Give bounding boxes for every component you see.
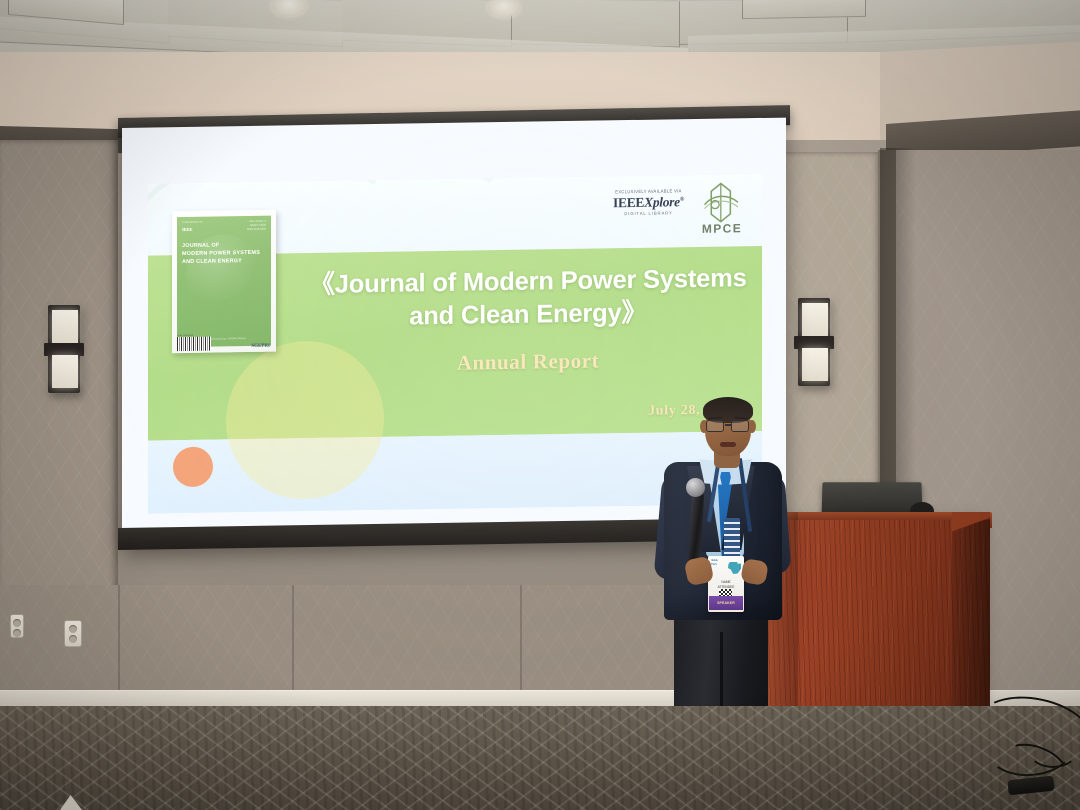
glasses-lens-right [731, 420, 749, 432]
badge-logo-text: IEEE PES [711, 559, 718, 567]
wall-seam [520, 585, 522, 705]
registered-mark: ® [680, 197, 684, 203]
xplore-library-text: DIGITAL LIBRARY [613, 210, 684, 216]
sconce-glass-top [802, 303, 828, 336]
cover-issue-info: VOL. 00 NO. 0 MONTH 2023 ISSN 2196-5625 [247, 220, 266, 233]
mpce-monogram-icon [696, 181, 746, 224]
wall-seam [292, 585, 294, 705]
sconce-glass-bottom [802, 348, 828, 381]
xplore-ieee-text: IEEE [613, 195, 644, 210]
carpet-floor [0, 706, 1080, 810]
wall-sconce-left [48, 305, 80, 393]
journal-cover-thumbnail: PUBLISHED BY IEEE VOL. 00 NO. 0 MONTH 20… [172, 210, 276, 354]
journal-cover-art: PUBLISHED BY IEEE VOL. 00 NO. 0 MONTH 20… [177, 216, 271, 347]
ieee-xplore-logo: EXCLUSIVELY AVAILABLE VIA IEEEXplore® DI… [613, 182, 684, 216]
badge-ribbon-text: SPEAKER [717, 601, 735, 605]
power-outlet[interactable] [10, 614, 24, 638]
mpce-label: MPCE [696, 221, 748, 236]
microphone-head [686, 478, 705, 497]
cover-eyebrow: PUBLISHED BY [182, 221, 203, 225]
barcode-icon [177, 337, 211, 352]
av-cable [1028, 732, 1078, 768]
speaker-mouth [720, 442, 736, 447]
slide-logo-row: EXCLUSIVELY AVAILABLE VIA IEEEXplore® DI… [613, 181, 748, 237]
glasses-lens-left [706, 420, 724, 432]
sconce-glass-top [52, 310, 78, 343]
slide-title: 《Journal of Modern Power Systems and Cle… [300, 262, 756, 334]
xplore-eyebrow-text: EXCLUSIVELY AVAILABLE VIA [613, 188, 684, 195]
texas-outline-icon [728, 562, 741, 574]
mpce-logo: MPCE [696, 181, 748, 236]
lectern-corner [952, 512, 990, 538]
ceiling-vent [742, 0, 866, 19]
badge-ribbon: SPEAKER [709, 596, 743, 610]
xplore-xplore-text: Xplore [644, 194, 680, 210]
cover-title: JOURNAL OF MODERN POWER SYSTEMS AND CLEA… [182, 242, 263, 267]
power-outlet[interactable] [64, 620, 82, 647]
cover-publisher: SGEPRI [251, 344, 270, 349]
cover-ieee-mark: IEEE [182, 227, 192, 232]
eyeglasses-icon [705, 420, 751, 433]
xplore-wordmark: IEEEXplore® [613, 195, 684, 210]
conference-badge: IEEE PES NAME ATTENDEE SPEAKER [708, 556, 744, 612]
sconce-glass-bottom [52, 355, 78, 388]
wall-sconce-right [798, 298, 830, 386]
wall-seam [118, 585, 120, 705]
conference-photo: EXCLUSIVELY AVAILABLE VIA IEEEXplore® DI… [0, 0, 1080, 810]
